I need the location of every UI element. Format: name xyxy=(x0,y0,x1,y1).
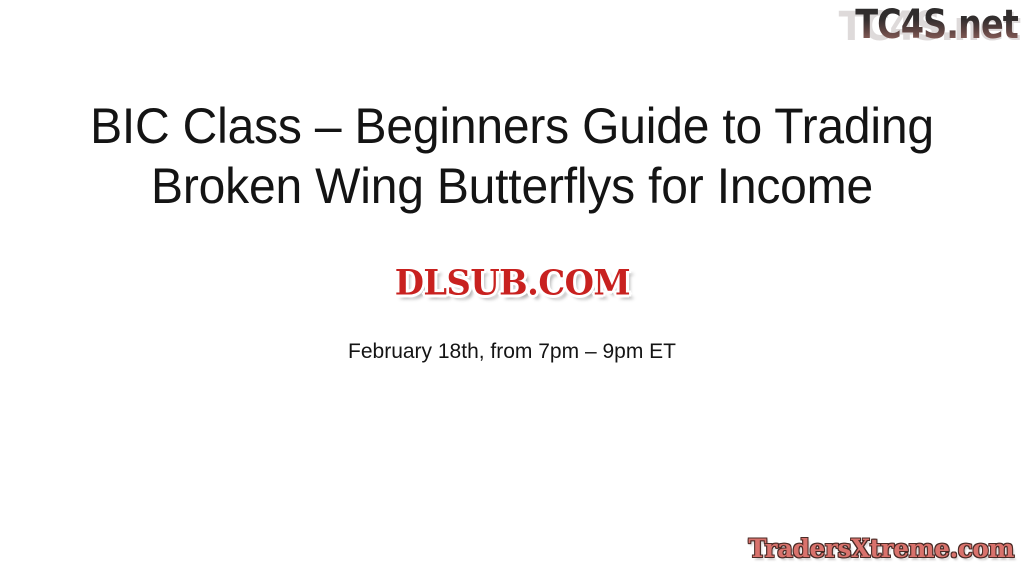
presentation-slide: TC4S.net TC4S.net BIC Class – Beginners … xyxy=(0,0,1024,576)
dlsub-watermark-text: DLSUB.COM xyxy=(394,264,629,302)
slide-subtitle: February 18th, from 7pm – 9pm ET xyxy=(62,338,962,366)
dlsub-watermark: DLSUB.COM xyxy=(366,263,658,303)
slide-title: BIC Class – Beginners Guide to Trading B… xyxy=(80,96,944,216)
tradersxtreme-logo: TradersXtreme.com xyxy=(748,534,1014,564)
tc4s-logo: TC4S.net xyxy=(855,2,1018,48)
